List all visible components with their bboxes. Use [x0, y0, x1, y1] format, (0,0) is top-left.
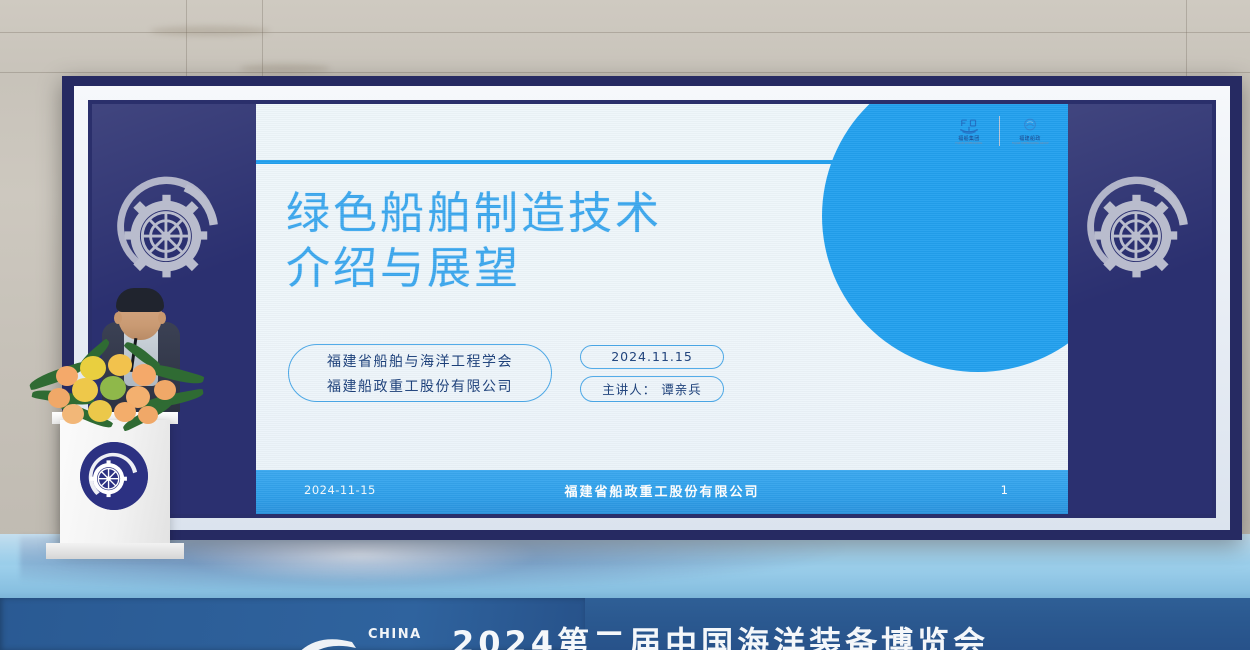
fjc-mark-icon — [958, 118, 980, 134]
slide-title-line2: 介绍与展望 — [286, 241, 826, 296]
flower-arrangement — [28, 348, 208, 436]
slide-meta-pills: 福建省船舶与海洋工程学会 福建船政重工股份有限公司 2024.11.15 主讲人… — [288, 344, 724, 402]
logo-divider — [999, 116, 1000, 146]
speaker-hair — [116, 288, 164, 312]
banner-title: 2024第二届中国海洋装备博览会 — [452, 618, 989, 650]
logo-cn-text: 福建船政 — [1019, 135, 1041, 142]
gear-ship-wheel-circle-logo — [80, 442, 148, 510]
wall-stain — [150, 26, 270, 36]
wall-stain — [240, 64, 330, 73]
slide-accent-line — [256, 160, 1068, 164]
stage-scene: 福船集团 FUJIAN SHIPBUILDING 福建船政 FUJIAN SHI… — [0, 0, 1250, 650]
org-line-1: 福建省船舶与海洋工程学会 — [327, 351, 513, 371]
circle-wave-mark-icon — [1019, 118, 1041, 134]
logo-cn-text: 福船集团 — [958, 135, 980, 142]
fujian-shipping-group-logo: 福船集团 FUJIAN SHIPBUILDING — [947, 118, 991, 145]
logo-en-text: FUJIAN SHIPBUILDING — [956, 142, 983, 145]
date-pill: 2024.11.15 — [580, 345, 724, 369]
gear-ship-wheel-logo — [114, 170, 232, 288]
presentation-slide: 福船集团 FUJIAN SHIPBUILDING 福建船政 FUJIAN SHI… — [256, 104, 1068, 514]
slide-title-line1: 绿色船舶制造技术 — [286, 188, 662, 239]
slide-footer-bar: 2024-11-15 福建省船政重工股份有限公司 1 — [256, 470, 1068, 514]
logo-en-text: FUJIAN SHIPBUILDING GROUP — [1012, 142, 1049, 145]
slide-title: 绿色船舶制造技术 介绍与展望 — [286, 186, 826, 297]
slide-logo-row: 福船集团 FUJIAN SHIPBUILDING 福建船政 FUJIAN SHI… — [947, 116, 1052, 146]
event-banner: CHINA 2024第二届中国海洋装备博览会 — [0, 616, 1250, 650]
speaker-pill: 主讲人： 谭亲兵 — [580, 376, 724, 402]
org-line-2: 福建船政重工股份有限公司 — [327, 376, 513, 396]
right-side-panel — [1068, 104, 1212, 514]
podium — [60, 420, 170, 550]
speaker-ear — [158, 312, 166, 324]
fujian-shipbuilding-logo: 福建船政 FUJIAN SHIPBUILDING GROUP — [1008, 118, 1052, 145]
meta-pill-column: 2024.11.15 主讲人： 谭亲兵 — [580, 345, 724, 402]
gear-ship-wheel-logo — [1084, 170, 1202, 288]
footer-page-number: 1 — [1001, 483, 1008, 497]
speaker-ear — [114, 312, 122, 324]
organization-pill: 福建省船舶与海洋工程学会 福建船政重工股份有限公司 — [288, 344, 552, 402]
wall-seam — [0, 72, 1250, 73]
podium-base — [46, 543, 184, 559]
panel-sheen — [1068, 104, 1212, 514]
footer-company: 福建省船政重工股份有限公司 — [256, 481, 1068, 500]
banner-china-text: CHINA — [368, 627, 422, 642]
event-logo-icon — [292, 624, 364, 650]
